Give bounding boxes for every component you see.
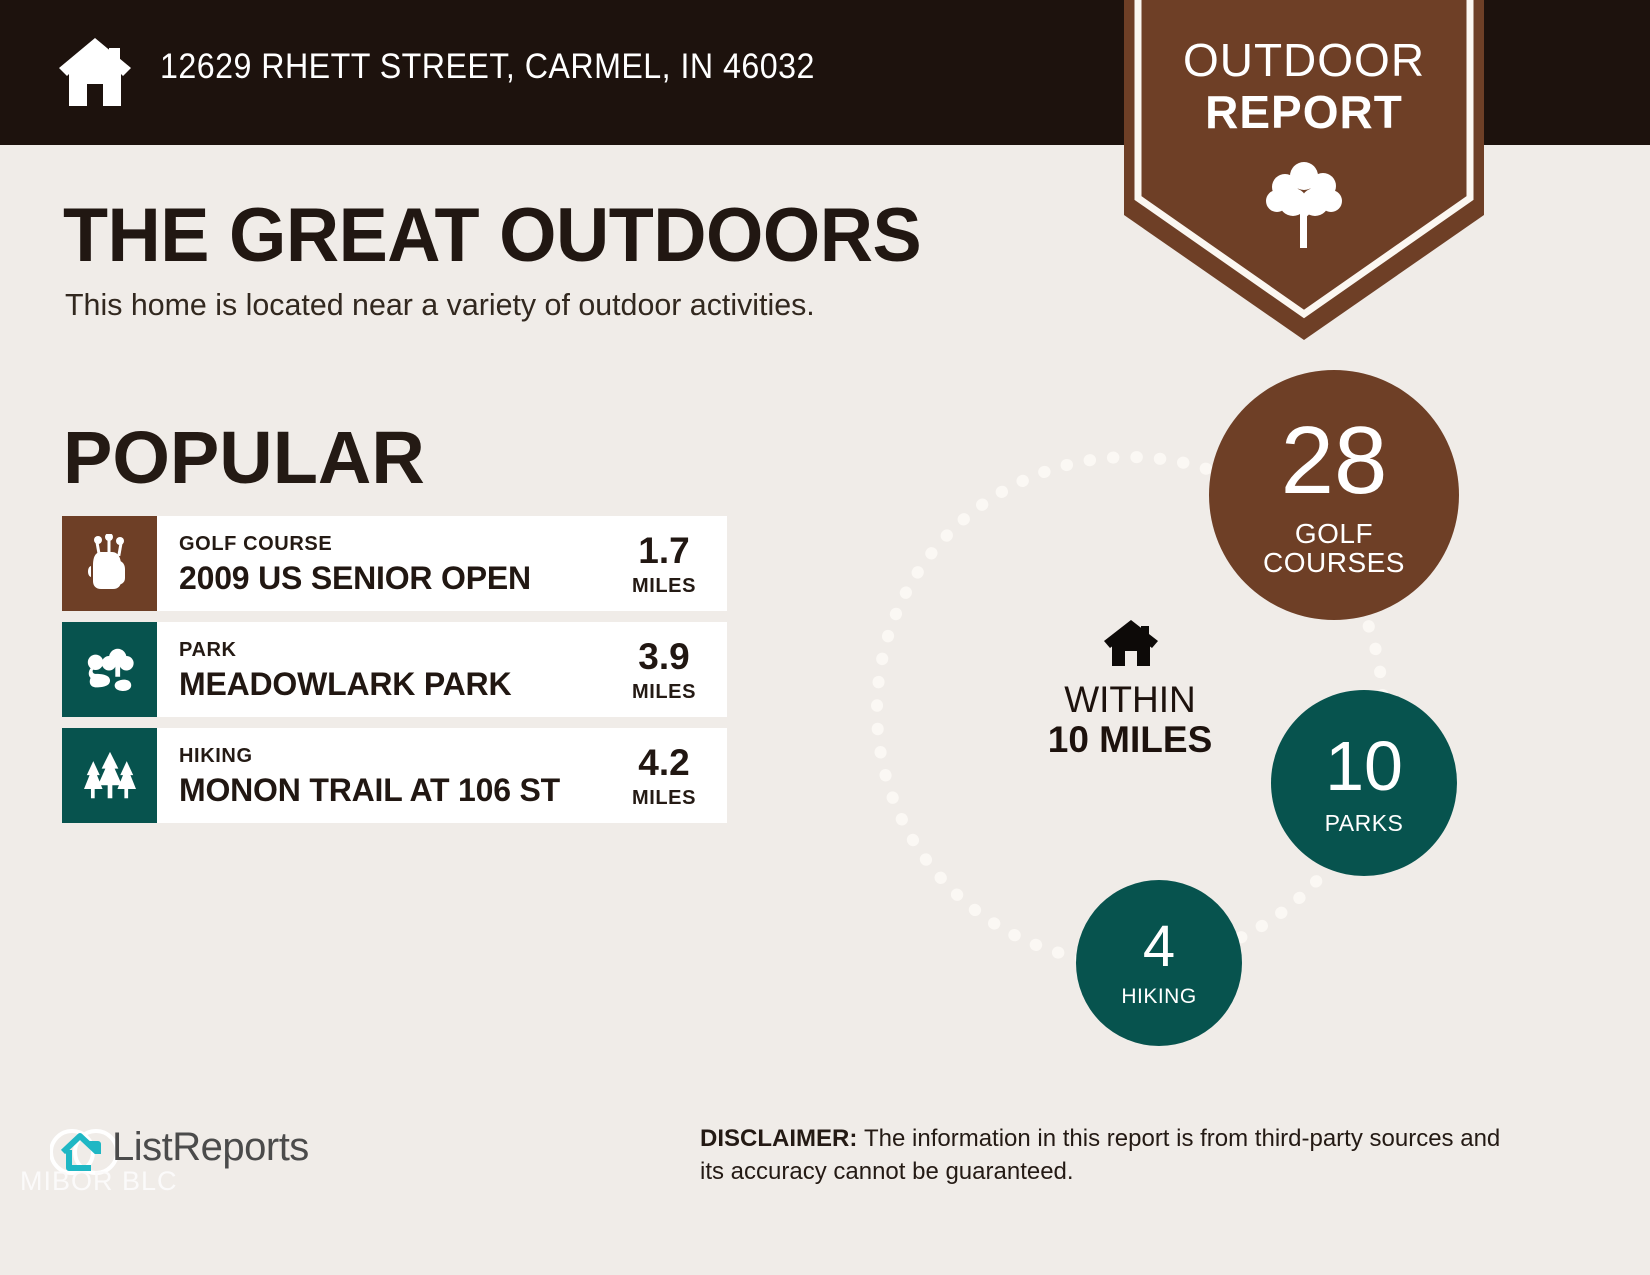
- stat-label-line-1: GOLF: [1295, 519, 1373, 548]
- listreports-wordmark: ListReports: [112, 1125, 309, 1170]
- disclaimer-label: DISCLAIMER:: [700, 1125, 864, 1152]
- popular-heading: POPULAR: [63, 415, 425, 500]
- popular-list: GOLF COURSE 2009 US SENIOR OPEN 1.7 MILE…: [62, 516, 727, 834]
- list-item-distance: 1.7 MILES: [623, 532, 705, 596]
- stat-label-line-1: PARKS: [1325, 811, 1404, 835]
- list-item-body: PARK MEADOWLARK PARK 3.9 MILES: [157, 622, 727, 717]
- stat-bubble-golf-courses[interactable]: 28 GOLF COURSES: [1209, 370, 1459, 620]
- park-tree-icon: [62, 622, 157, 717]
- home-icon: [57, 34, 133, 110]
- home-icon: [1103, 618, 1159, 668]
- stat-value: 28: [1281, 413, 1388, 509]
- list-item[interactable]: GOLF COURSE 2009 US SENIOR OPEN 1.7 MILE…: [62, 516, 727, 611]
- list-item-text: GOLF COURSE 2009 US SENIOR OPEN: [179, 534, 531, 594]
- stat-label-line-1: HIKING: [1121, 986, 1196, 1008]
- distance-unit: MILES: [623, 576, 705, 596]
- stat-value: 10: [1325, 731, 1403, 801]
- mls-label: MIBOR BLC: [20, 1166, 178, 1197]
- caption-line-1: WITHIN: [960, 680, 1300, 720]
- tree-icon: [1265, 160, 1343, 250]
- list-item-category: PARK: [179, 640, 511, 660]
- list-item-distance: 3.9 MILES: [623, 638, 705, 702]
- golf-bag-icon: [62, 516, 157, 611]
- stat-bubble-hiking[interactable]: 4 HIKING: [1076, 880, 1242, 1046]
- list-item-category: GOLF COURSE: [179, 534, 531, 554]
- list-item[interactable]: HIKING MONON TRAIL AT 106 ST 4.2 MILES: [62, 728, 727, 823]
- list-item-name: MONON TRAIL AT 106 ST: [179, 774, 560, 806]
- list-item-name: 2009 US SENIOR OPEN: [179, 562, 531, 594]
- stat-label-line-2: COURSES: [1263, 548, 1405, 577]
- distance-value: 1.7: [623, 532, 705, 569]
- stat-value: 4: [1143, 918, 1175, 976]
- list-item-body: HIKING MONON TRAIL AT 106 ST 4.2 MILES: [157, 728, 727, 823]
- list-item-category: HIKING: [179, 746, 560, 766]
- distance-unit: MILES: [623, 788, 705, 808]
- distance-value: 4.2: [623, 744, 705, 781]
- disclaimer: DISCLAIMER: The information in this repo…: [700, 1122, 1510, 1188]
- list-item[interactable]: PARK MEADOWLARK PARK 3.9 MILES: [62, 622, 727, 717]
- list-item-text: PARK MEADOWLARK PARK: [179, 640, 511, 700]
- caption-line-2: 10 MILES: [960, 720, 1300, 760]
- list-item-body: GOLF COURSE 2009 US SENIOR OPEN 1.7 MILE…: [157, 516, 727, 611]
- within-radius-caption: WITHIN 10 MILES: [960, 680, 1300, 760]
- pine-trees-icon: [62, 728, 157, 823]
- page-title: THE GREAT OUTDOORS: [63, 192, 921, 279]
- property-address: 12629 RHETT STREET, CARMEL, IN 46032: [160, 47, 815, 87]
- list-item-name: MEADOWLARK PARK: [179, 668, 511, 700]
- list-item-distance: 4.2 MILES: [623, 744, 705, 808]
- list-item-text: HIKING MONON TRAIL AT 106 ST: [179, 746, 560, 806]
- distance-unit: MILES: [623, 682, 705, 702]
- page-subtitle: This home is located near a variety of o…: [65, 287, 815, 323]
- distance-value: 3.9: [623, 638, 705, 675]
